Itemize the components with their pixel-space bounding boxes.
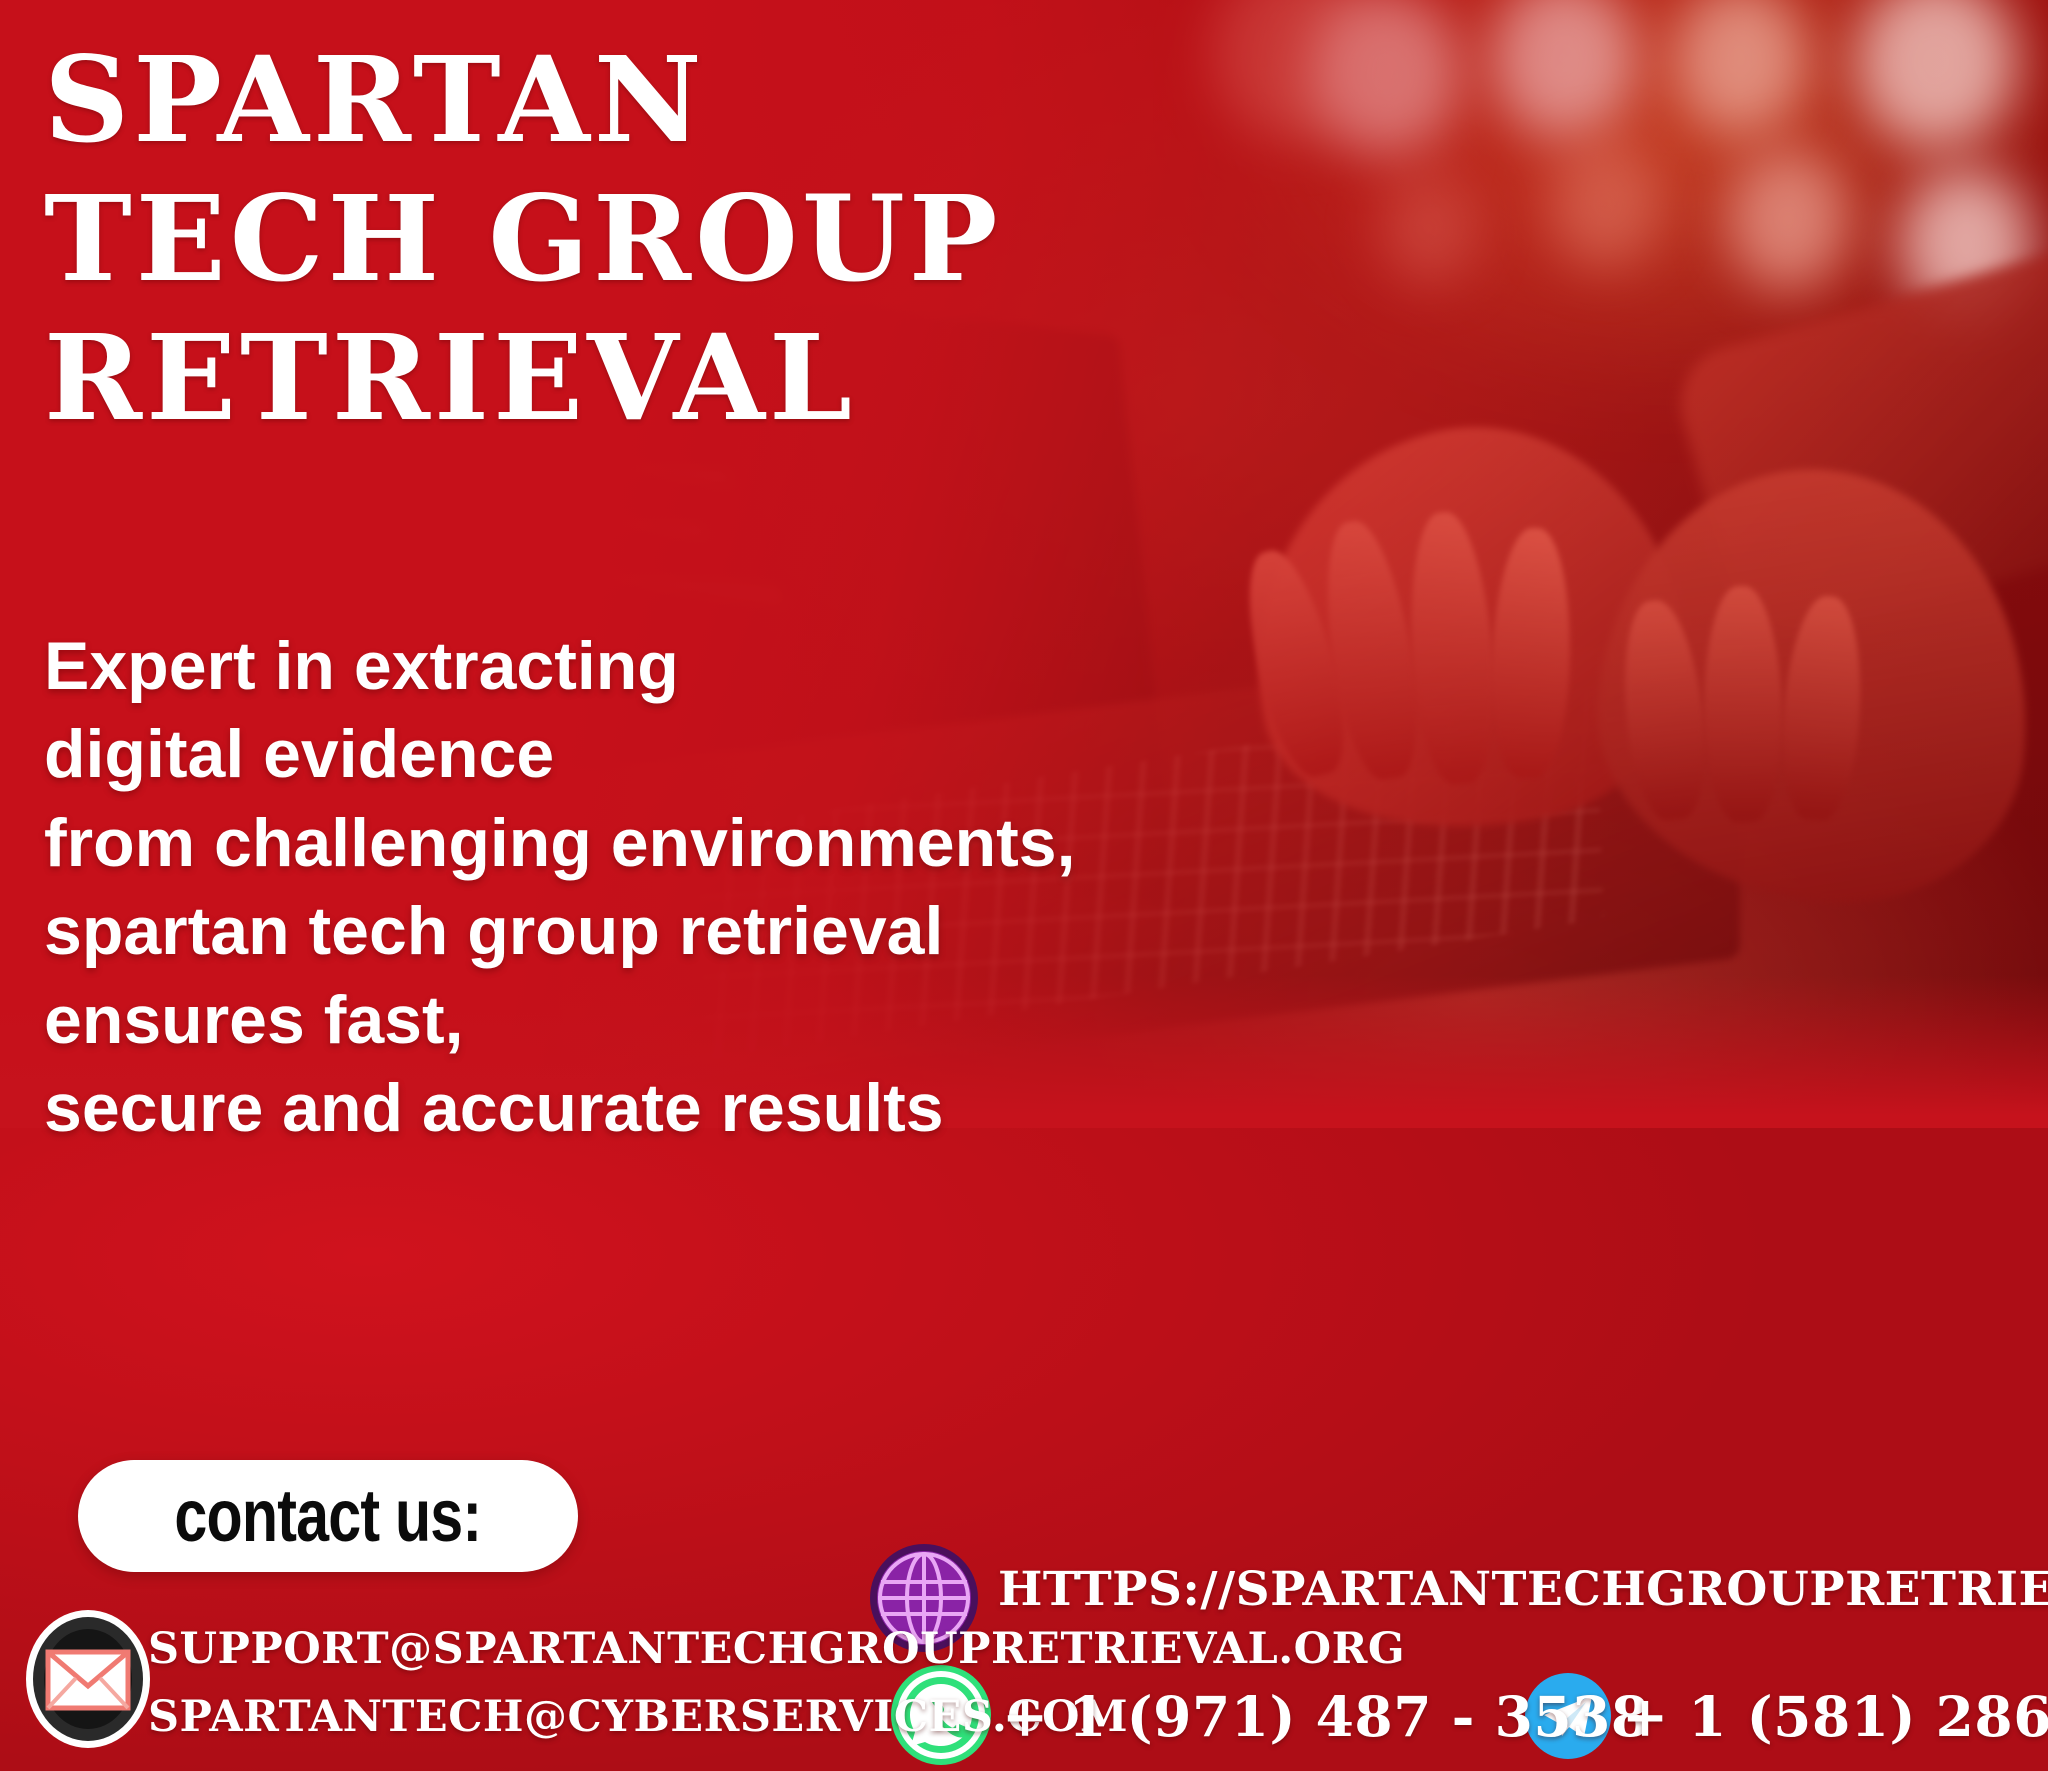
mail-icon	[24, 1608, 152, 1750]
subhead-line-1: Expert in extracting	[44, 622, 1444, 710]
headline-line-1: SPARTAN	[44, 30, 1124, 169]
website-url[interactable]: HTTPS://SPARTANTECHGROUPRETRIEVAL.ORG	[998, 1562, 2048, 1617]
email-primary[interactable]: SUPPORT@SPARTANTECHGROUPRETRIEVAL.ORG	[148, 1624, 1405, 1674]
subhead-line-5: ensures fast,	[44, 976, 1444, 1064]
headline-line-3: RETRIEVAL	[44, 308, 1124, 447]
subhead-line-6: secure and accurate results	[44, 1064, 1444, 1152]
subhead-line-3: from challenging environments,	[44, 799, 1444, 887]
poster-subheadline: Expert in extracting digital evidence fr…	[44, 622, 1444, 1152]
email-secondary[interactable]: SPARTANTECH@CYBERSERVICES.COM	[148, 1692, 1128, 1742]
headline-line-2: TECH GROUP	[44, 169, 1124, 308]
subhead-line-4: spartan tech group retrieval	[44, 887, 1444, 975]
contact-us-label: contact us:	[175, 1479, 482, 1553]
telegram-phone[interactable]: + 1 (581) 286 - 8092	[1622, 1684, 2048, 1749]
subhead-line-2: digital evidence	[44, 710, 1444, 798]
promotional-poster: SPARTAN TECH GROUP RETRIEVAL Expert in e…	[0, 0, 2048, 1771]
poster-headline: SPARTAN TECH GROUP RETRIEVAL	[44, 30, 1124, 448]
contact-us-badge: contact us:	[78, 1460, 578, 1572]
whatsapp-phone[interactable]: + 1 (971) 487 - 3538	[1002, 1684, 1650, 1749]
